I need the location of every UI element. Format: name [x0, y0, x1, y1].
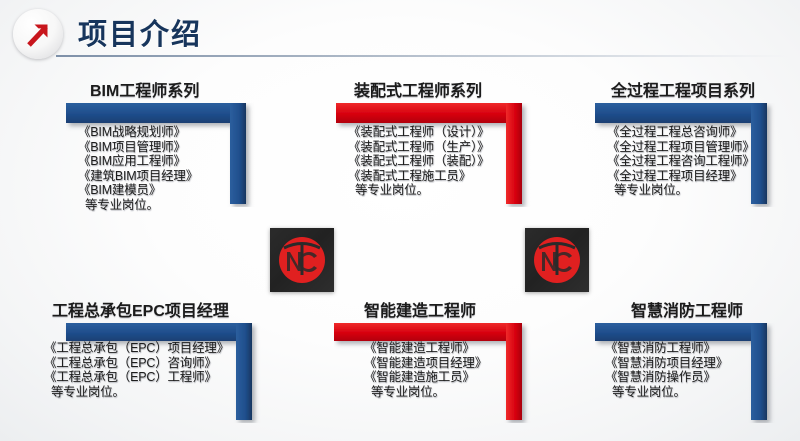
ntc-watermark-logo: NTC: [270, 228, 334, 292]
list-item: 《工程总承包（EPC）项目经理》: [44, 341, 229, 356]
list-item: 《全过程工程咨询工程师》: [607, 154, 755, 169]
list-item: 《建筑BIM项目经理》: [78, 169, 198, 184]
list-item: 《智能建造施工员》: [364, 370, 487, 385]
list-item: 《全过程工程项目管理师》: [607, 140, 755, 155]
block-title: 工程总承包EPC项目经理: [52, 297, 229, 321]
list-item: 《全过程工程总咨询师》: [607, 125, 755, 140]
block-items: 《智能建造工程师》 《智能建造项目经理》 《智能建造施工员》 等专业岗位。: [364, 341, 487, 399]
list-item: 《智慧消防工程师》: [605, 341, 728, 356]
list-item: 《装配式工程师（设计）》: [348, 125, 489, 140]
list-item: 《智慧消防操作员》: [605, 370, 728, 385]
block-title: 装配式工程师系列: [354, 77, 482, 101]
list-item-tail: 等专业岗位。: [348, 183, 489, 198]
list-item: 《全过程工程项目经理》: [607, 169, 755, 184]
list-item: 《BIM项目管理师》: [78, 140, 198, 155]
list-item-tail: 等专业岗位。: [605, 385, 728, 400]
list-item-tail: 等专业岗位。: [607, 183, 755, 198]
list-item: 《BIM应用工程师》: [78, 154, 198, 169]
block-items: 《BIM战略规划师》 《BIM项目管理师》 《BIM应用工程师》 《建筑BIM项…: [78, 125, 198, 213]
block-title: 智能建造工程师: [364, 297, 476, 321]
block-items: 《全过程工程总咨询师》 《全过程工程项目管理师》 《全过程工程咨询工程师》 《全…: [607, 125, 755, 198]
block-title: 全过程工程项目系列: [611, 77, 755, 101]
ntc-watermark-logo: [525, 228, 589, 292]
list-item: 《工程总承包（EPC）工程师》: [44, 370, 229, 385]
list-item: 《装配式工程师（装配）》: [348, 154, 489, 169]
arrow-up-right-icon: [13, 9, 63, 59]
list-item: 《智能建造项目经理》: [364, 356, 487, 371]
block-items: 《智慧消防工程师》 《智慧消防项目经理》 《智慧消防操作员》 等专业岗位。: [605, 341, 728, 399]
list-item: 《BIM战略规划师》: [78, 125, 198, 140]
list-item: 《装配式工程施工员》: [348, 169, 489, 184]
list-item: 《工程总承包（EPC）咨询师》: [44, 356, 229, 371]
list-item-tail: 等专业岗位。: [364, 385, 487, 400]
list-item: 《装配式工程师（生产）》: [348, 140, 489, 155]
list-item: 《智慧消防项目经理》: [605, 356, 728, 371]
header-divider: [56, 55, 791, 57]
list-item: 《智能建造工程师》: [364, 341, 487, 356]
page-title: 项目介绍: [78, 11, 202, 53]
block-items: 《工程总承包（EPC）项目经理》 《工程总承包（EPC）咨询师》 《工程总承包（…: [44, 341, 229, 399]
list-item-tail: 等专业岗位。: [78, 198, 198, 213]
list-item: 《BIM建模员》: [78, 183, 198, 198]
list-item-tail: 等专业岗位。: [44, 385, 229, 400]
block-title: 智慧消防工程师: [631, 297, 743, 321]
block-items: 《装配式工程师（设计）》 《装配式工程师（生产）》 《装配式工程师（装配）》 《…: [348, 125, 489, 198]
slide-canvas: 项目介绍 NTC BIM工程师系列: [0, 0, 800, 441]
block-title: BIM工程师系列: [90, 77, 199, 101]
slide-header: 项目介绍: [0, 0, 800, 62]
